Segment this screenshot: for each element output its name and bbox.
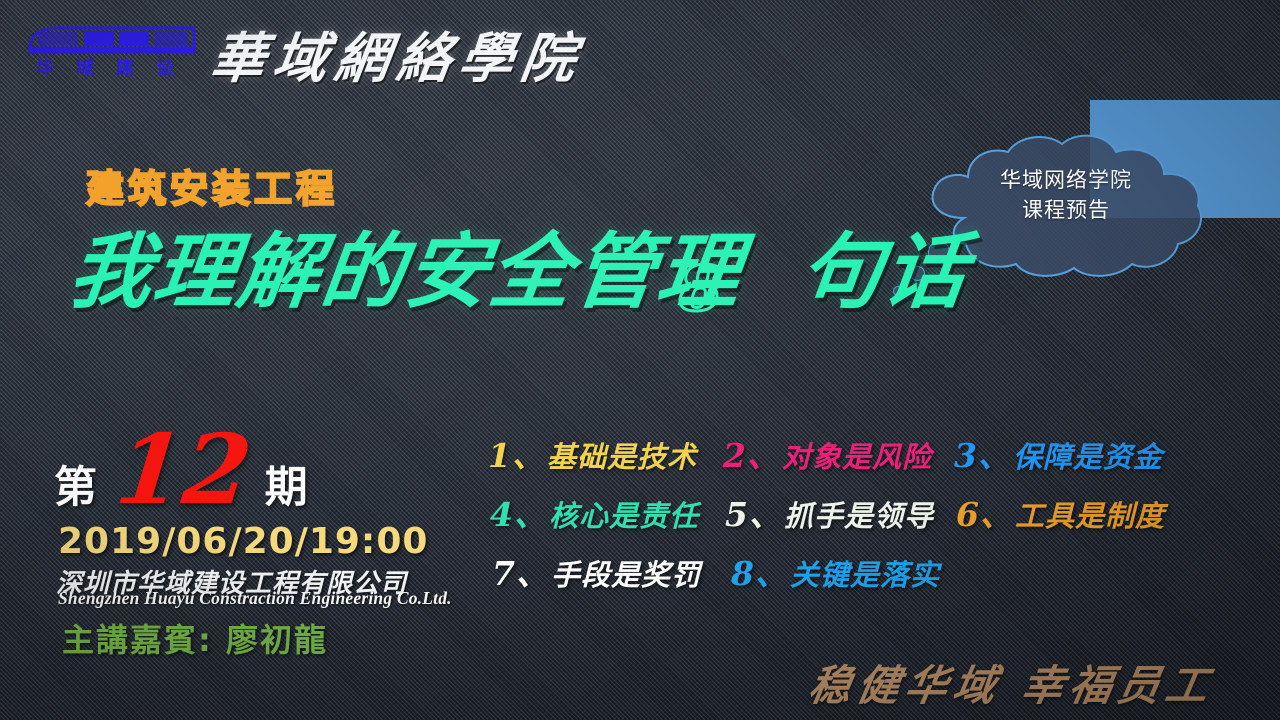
- cloud-line-1: 华域网络学院: [906, 166, 1226, 196]
- vignette-overlay: [0, 0, 1280, 720]
- key-point-4-number: 4、: [490, 495, 548, 534]
- cloud-callout-text: 华域网络学院 课程预告: [906, 166, 1226, 226]
- key-point-2-number: 2、: [723, 436, 781, 475]
- key-point-3: 3、保障是资金: [954, 432, 1163, 481]
- headline-part-1: 我理解的安全管理: [64, 224, 748, 320]
- headline-count-number: 8: [679, 258, 722, 320]
- issue-suffix: 期: [265, 460, 308, 516]
- issue-number: 12: [112, 424, 255, 516]
- key-point-6: 6、工具是制度: [956, 491, 1165, 540]
- brand-title: 華域網絡學院: [206, 14, 589, 93]
- key-point-8-text: 关键是落实: [790, 558, 940, 592]
- key-point-7: 7、手段是奖罚: [492, 550, 701, 599]
- key-point-8: 8、关键是落实: [731, 550, 940, 599]
- key-point-7-text: 手段是奖罚: [551, 558, 701, 592]
- key-point-4: 4、核心是责任: [490, 491, 699, 540]
- key-points-row: 7、手段是奖罚 8、关键是落实: [492, 550, 1208, 599]
- key-point-2-text: 对象是风险: [782, 440, 932, 474]
- key-point-6-text: 工具是制度: [1015, 499, 1165, 533]
- key-point-3-number: 3、: [954, 436, 1012, 475]
- issue-prefix: 第: [54, 460, 97, 516]
- key-point-5-number: 5、: [725, 495, 783, 534]
- page-title: 我理解的安全管理句话: [64, 222, 974, 322]
- key-point-8-number: 8、: [731, 554, 789, 593]
- key-point-5-text: 抓手是领导: [784, 499, 934, 533]
- key-point-5: 5、抓手是领导: [725, 491, 934, 540]
- company-name-en: Shengzhen Huayu Constraction Engineering…: [58, 588, 452, 609]
- key-points-row: 4、核心是责任 5、抓手是领导 6、工具是制度: [490, 491, 1208, 540]
- footer-slogan: 稳健华域 幸福员工: [805, 652, 1220, 713]
- key-point-6-number: 6、: [956, 495, 1014, 534]
- svg-text:华: 华: [36, 57, 54, 79]
- key-point-1: 1、基础是技术: [488, 432, 697, 481]
- key-point-7-number: 7、: [492, 554, 550, 593]
- eyebrow-title: 建筑安装工程: [86, 158, 338, 213]
- key-points-list: 1、基础是技术 2、对象是风险 3、保障是资金 4、核心是责任 5、抓手是领导 …: [488, 432, 1208, 609]
- issue-line: 第 12 期: [54, 432, 308, 516]
- slide-header: 华 域 建 设 華域網絡學院: [0, 0, 1280, 100]
- session-datetime: 2019/06/20/19:00: [58, 521, 428, 562]
- slide-canvas: 华 域 建 设 華域網絡學院 华域网络学院 课程预告 建筑安装工程 我理解的安全…: [0, 0, 1280, 720]
- key-point-2: 2、对象是风险: [723, 432, 932, 481]
- svg-text:设: 设: [156, 58, 174, 79]
- key-point-3-text: 保障是资金: [1013, 440, 1163, 474]
- key-point-1-text: 基础是技术: [547, 440, 697, 474]
- svg-text:建: 建: [116, 57, 134, 79]
- headline-group: 我理解的安全管理句话: [70, 222, 970, 332]
- headline-part-2: 句话: [794, 224, 974, 320]
- key-point-4-text: 核心是责任: [549, 499, 699, 533]
- huayu-train-logo-icon: 华 域 建 设: [24, 22, 204, 80]
- key-points-row: 1、基础是技术 2、对象是风险 3、保障是资金: [488, 432, 1208, 481]
- svg-text:域: 域: [76, 57, 94, 79]
- speaker-name: 主講嘉賓: 廖初龍: [62, 615, 328, 661]
- key-point-1-number: 1、: [488, 436, 546, 475]
